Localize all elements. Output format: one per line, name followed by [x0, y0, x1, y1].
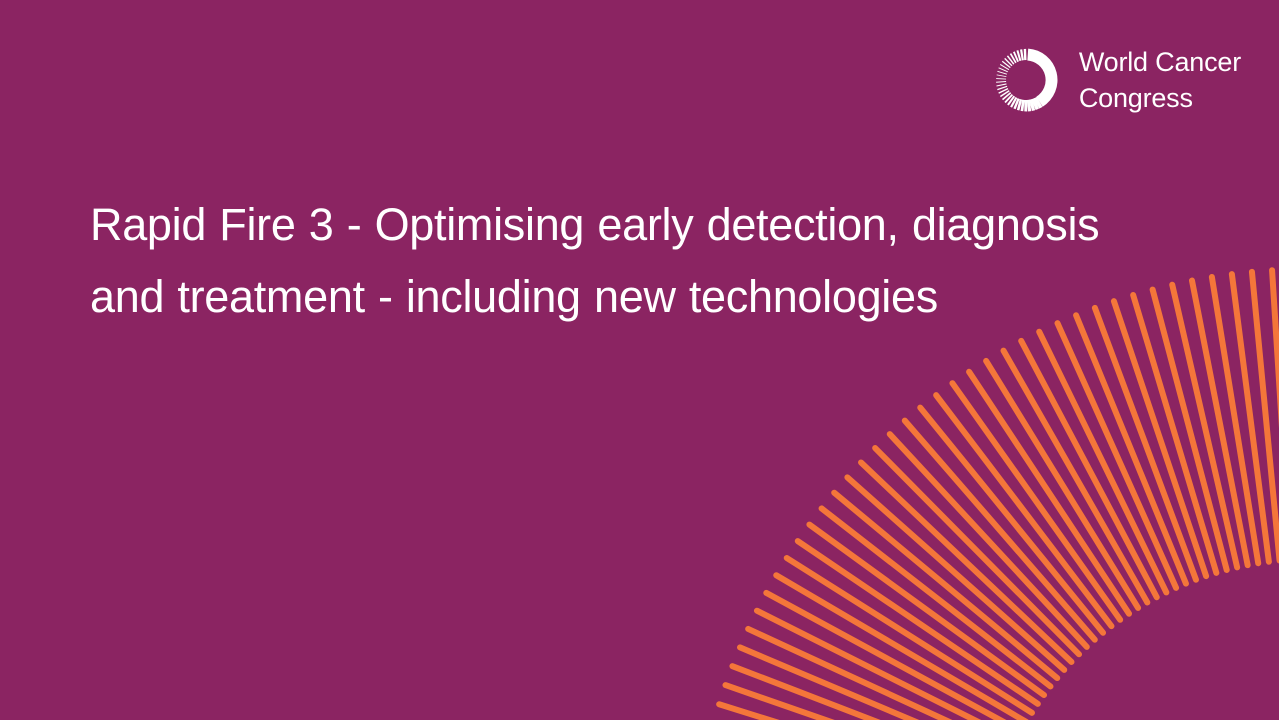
logo-lockup: World Cancer Congress [991, 44, 1241, 116]
sunburst-rays [697, 269, 1279, 720]
title-block: Rapid Fire 3 - Optimising early detectio… [90, 189, 1100, 333]
logo-mark-segments [996, 49, 1057, 112]
presentation-slide: World Cancer Congress Rapid Fire 3 - Opt… [0, 0, 1279, 720]
slide-title: Rapid Fire 3 - Optimising early detectio… [90, 189, 1100, 333]
world-cancer-congress-logo-icon [991, 45, 1061, 115]
logo-wordmark-line-2: Congress [1079, 80, 1241, 116]
logo-wordmark: World Cancer Congress [1079, 44, 1241, 116]
logo-wordmark-line-1: World Cancer [1079, 44, 1241, 80]
